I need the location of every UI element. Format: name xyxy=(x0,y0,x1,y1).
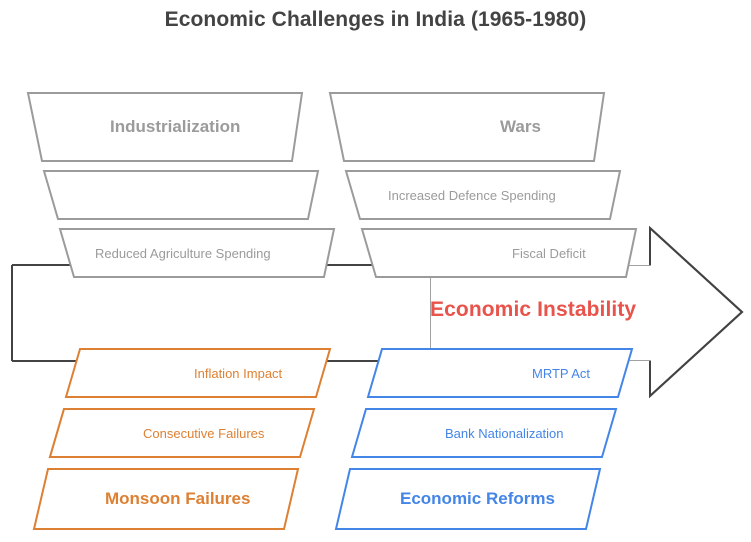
node-bank-nationalization[interactable] xyxy=(352,409,616,457)
node-monsoon-failures[interactable] xyxy=(34,469,298,529)
diagram-canvas: Economic Challenges in India (1965-1980) xyxy=(0,0,751,542)
node-increased-defence-spending[interactable] xyxy=(346,171,620,219)
group-wars xyxy=(330,93,636,277)
node-consecutive-failures-shape xyxy=(50,409,314,457)
node-reduced-agriculture-spending[interactable] xyxy=(60,229,334,277)
node-industrialization-blank[interactable] xyxy=(44,171,318,219)
node-wars[interactable] xyxy=(330,93,604,161)
node-economic-reforms[interactable] xyxy=(336,469,600,529)
diagram-graphics xyxy=(0,0,751,542)
node-mrtp-act[interactable] xyxy=(368,349,632,397)
group-monsoon-failures xyxy=(34,349,330,529)
node-inflation-impact[interactable] xyxy=(66,349,330,397)
group-economic-reforms xyxy=(336,349,632,529)
node-industrialization[interactable] xyxy=(28,93,302,161)
label-economic-instability: Economic Instability xyxy=(430,298,636,322)
node-fiscal-deficit[interactable] xyxy=(362,229,636,277)
group-industrialization xyxy=(28,93,334,277)
